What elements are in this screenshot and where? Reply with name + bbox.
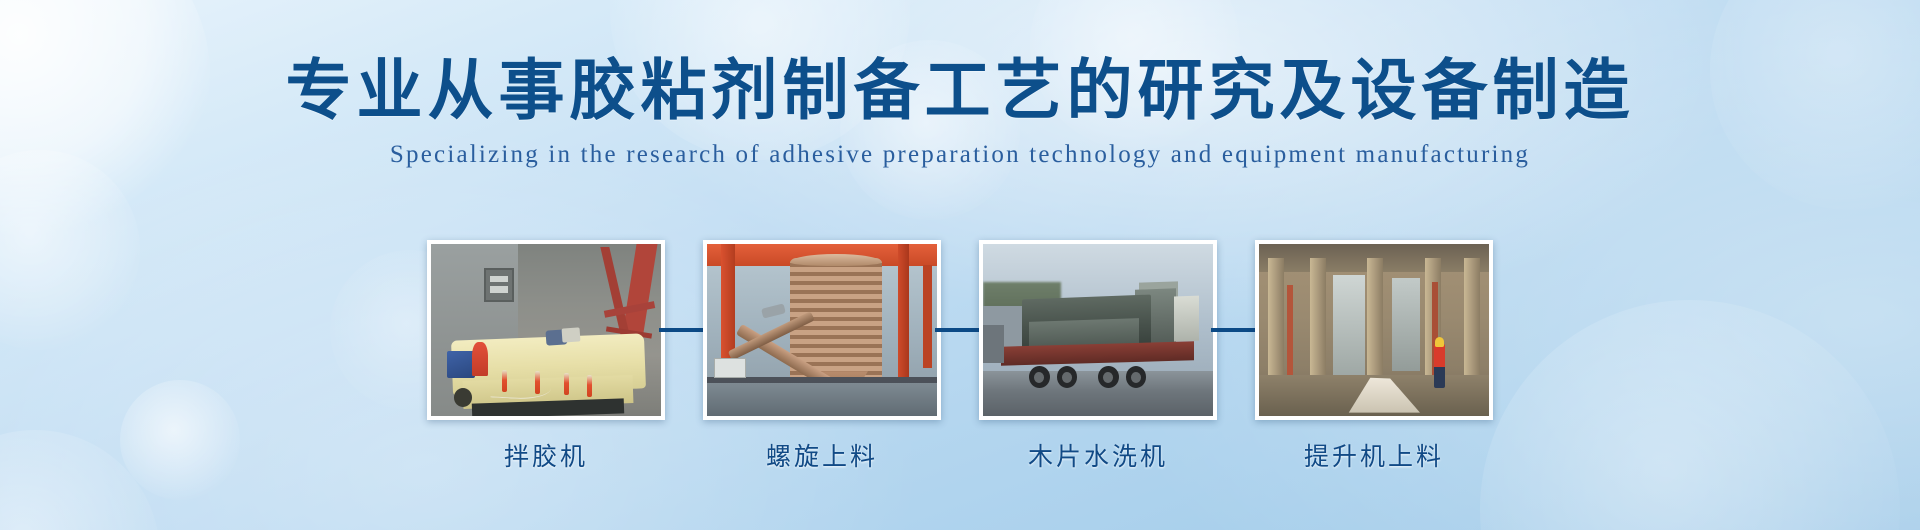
gallery-item-caption: 拌胶机 bbox=[504, 437, 588, 473]
gallery-item-caption: 提升机上料 bbox=[1304, 437, 1444, 473]
gallery-item-spiral-feeder[interactable]: 螺旋上料 bbox=[703, 240, 941, 473]
elevator-feeder-photo[interactable] bbox=[1255, 240, 1493, 420]
gallery-item-caption: 木片水洗机 bbox=[1028, 437, 1168, 473]
hero-banner: 专业从事胶粘剂制备工艺的研究及设备制造 Specializing in the … bbox=[0, 0, 1920, 530]
wood-chip-washer-photo[interactable] bbox=[979, 240, 1217, 420]
flow-connector-line bbox=[1217, 240, 1255, 420]
flow-connector-line bbox=[941, 240, 979, 420]
banner-headings: 专业从事胶粘剂制备工艺的研究及设备制造 Specializing in the … bbox=[0, 0, 1920, 169]
flow-connector-line bbox=[665, 240, 703, 420]
gallery-item-wood-chip-washer[interactable]: 木片水洗机 bbox=[979, 240, 1217, 473]
equipment-gallery: 拌胶机 bbox=[0, 240, 1920, 490]
banner-sub-title: Specializing in the research of adhesive… bbox=[0, 141, 1920, 169]
banner-main-title: 专业从事胶粘剂制备工艺的研究及设备制造 bbox=[0, 56, 1920, 125]
glue-mixer-photo[interactable] bbox=[427, 240, 665, 420]
gallery-item-caption: 螺旋上料 bbox=[766, 437, 878, 473]
gallery-item-elevator-feeder[interactable]: 提升机上料 bbox=[1255, 240, 1493, 473]
gallery-item-glue-mixer[interactable]: 拌胶机 bbox=[427, 240, 665, 473]
spiral-feeder-photo[interactable] bbox=[703, 240, 941, 420]
